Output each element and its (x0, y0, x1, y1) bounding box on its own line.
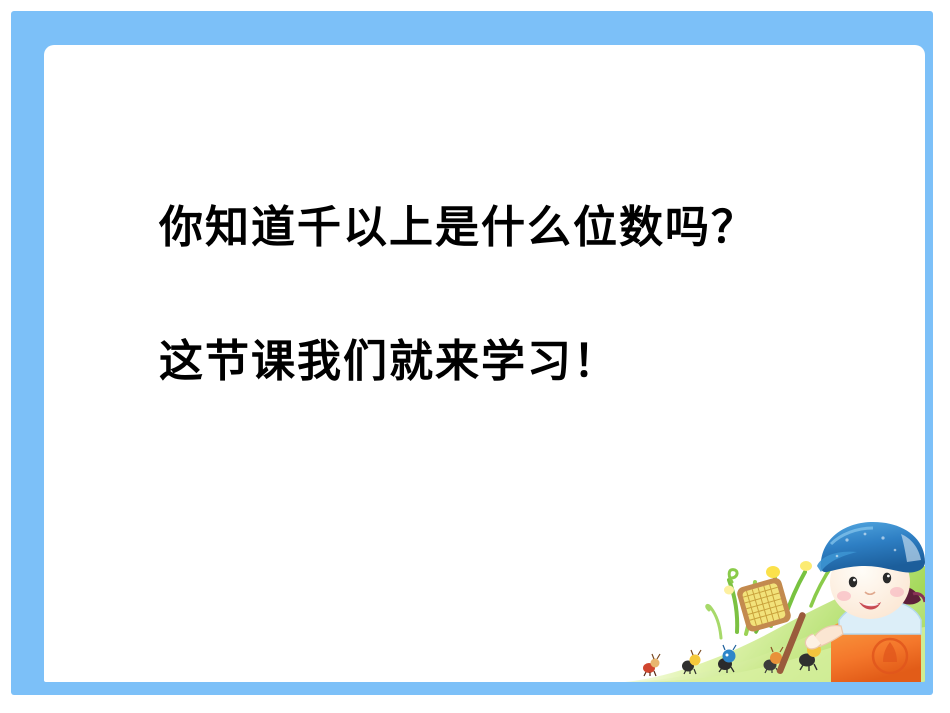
child-eye-right (883, 573, 891, 584)
ant-red (643, 654, 660, 676)
slide-text-line-2: 这节课我们就来学习！ (159, 334, 859, 390)
slide-blue-frame: 你知道千以上是什么位数吗？ 这节课我们就来学习！ (11, 11, 933, 695)
corner-illustration-image (625, 510, 925, 682)
slide-content-area: 你知道千以上是什么位数吗？ 这节课我们就来学习！ (44, 45, 925, 682)
child-illustration-svg (625, 510, 925, 682)
slide-canvas: 你知道千以上是什么位数吗？ 这节课我们就来学习！ (0, 0, 950, 713)
slide-text-block: 你知道千以上是什么位数吗？ 这节课我们就来学习！ (159, 200, 859, 390)
slide-text-line-1: 你知道千以上是什么位数吗？ (159, 200, 859, 256)
child-eye-left (849, 577, 857, 588)
